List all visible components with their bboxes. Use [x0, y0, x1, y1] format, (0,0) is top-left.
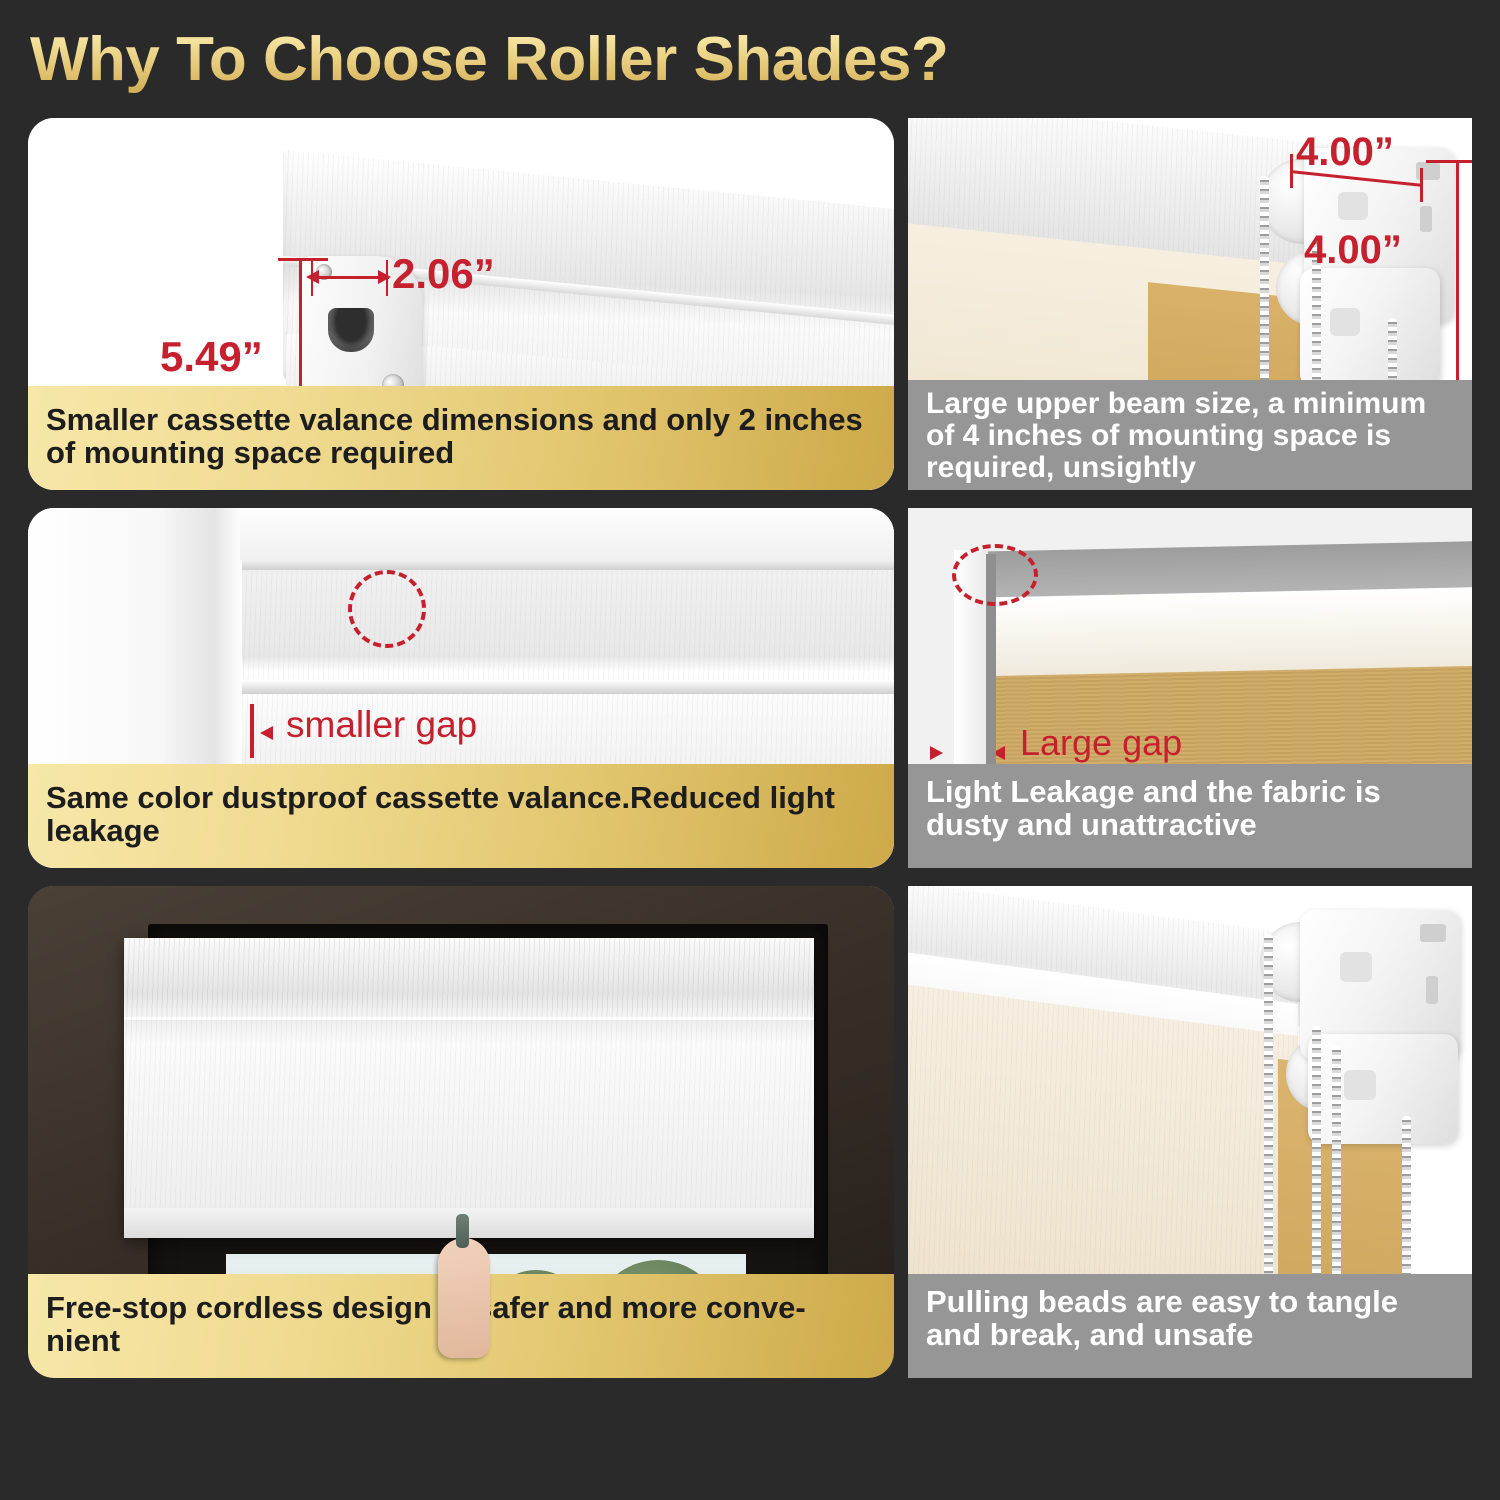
bracket-emboss — [1340, 952, 1372, 982]
caption-con-row2: Light Leakage and the fabric is dusty an… — [908, 764, 1472, 868]
dimension-label-height: 4.00” — [1304, 228, 1402, 273]
bracket-notch — [1420, 206, 1432, 232]
shade-bottom-rail — [124, 1208, 814, 1238]
bracket-notch — [1426, 976, 1438, 1004]
caption-con-row3: Pulling beads are easy to tangle and bre… — [908, 1274, 1472, 1378]
shade-mid-rail — [242, 680, 894, 694]
bracket-notch — [1420, 924, 1446, 942]
panel-con-beads: Pulling beads are easy to tangle and bre… — [908, 886, 1472, 1378]
bracket-emboss — [1344, 1070, 1376, 1100]
panel-con-dimensions: 4.00” 4.00” Large upper beam size, a min… — [908, 118, 1472, 490]
annotation-large-gap: Large gap — [1020, 722, 1182, 764]
arrow-left-icon — [306, 270, 319, 284]
dimension-ext-top — [278, 258, 328, 261]
highlight-circle-icon — [348, 570, 426, 648]
arrow-right-icon — [930, 746, 943, 760]
dimension-label-height: 5.49” — [160, 333, 263, 381]
arrow-left-icon — [260, 726, 273, 740]
white-cordless-shade — [124, 938, 814, 1238]
dimension-line-height — [1456, 160, 1459, 400]
bracket-emboss — [1338, 192, 1368, 220]
panel-pro-gap: smaller gap Same color dustproof cassett… — [28, 508, 894, 868]
arrow-right-icon — [378, 270, 391, 284]
page-title: Why To Choose Roller Shades? — [30, 16, 1470, 104]
dimension-ext-top — [1426, 160, 1472, 163]
caption-pro-row2: Same color dustproof cassette valance.Re… — [28, 764, 894, 868]
hand-pulling-shade — [438, 1238, 490, 1358]
dimension-label-width: 4.00” — [1296, 130, 1394, 175]
mounting-bracket-lower — [1308, 1034, 1458, 1144]
window-header-trim — [208, 508, 894, 560]
highlight-circle-icon — [952, 544, 1038, 606]
gap-marker — [250, 704, 254, 758]
fabric-texture — [124, 938, 814, 1238]
window-side-jamb — [28, 508, 240, 808]
bracket-emboss — [1330, 308, 1360, 336]
title-bar: Why To Choose Roller Shades? — [30, 16, 1470, 104]
panel-con-gap: Large gap Light Leakage and the fabric i… — [908, 508, 1472, 868]
cream-valance — [960, 587, 1472, 678]
caption-con-row1: Large upper beam size, a minimum of 4 in… — [908, 380, 1472, 490]
mounting-bracket-lower — [1300, 268, 1440, 388]
panel-pro-dimensions: 2.06” 5.49” Smaller cassette valance dim… — [28, 118, 894, 490]
roller-slot — [328, 308, 374, 352]
dimension-label-depth: 2.06” — [392, 250, 495, 298]
panel-pro-cordless: Free-stop cordless design is safer and m… — [28, 886, 894, 1378]
caption-pro-row1: Smaller cassette valance dimensions and … — [28, 386, 894, 490]
annotation-smaller-gap: smaller gap — [286, 704, 477, 746]
